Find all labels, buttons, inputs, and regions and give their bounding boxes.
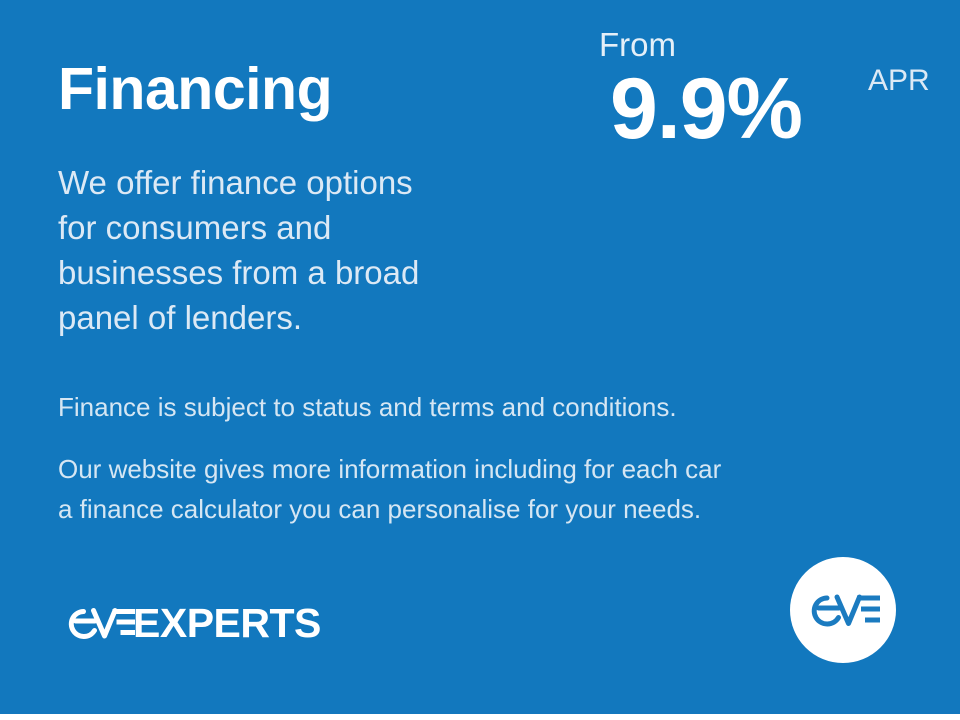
ev-monogram-icon [62,602,136,644]
website-note-line: a finance calculator you can personalise… [58,489,948,529]
page-title: Financing [58,60,332,119]
intro-line: businesses from a broad [58,250,528,295]
intro-line: for consumers and [58,205,528,250]
rate-value: 9.9% [610,66,802,152]
rate-apr-label: APR [868,66,930,96]
wordmark-text: EXPERTS [133,603,321,644]
slide-canvas: Financing From 9.9% APR We offer finance… [0,0,960,714]
website-note: Our website gives more information inclu… [58,449,948,529]
bottom-edge-strip [0,714,960,720]
website-note-line: Our website gives more information inclu… [58,449,948,489]
intro-line: We offer finance options [58,160,528,205]
rate-block: From 9.9% APR [596,28,946,158]
intro-line: panel of lenders. [58,295,528,340]
rate-from-label: From [599,28,676,61]
ev-experts-wordmark: EXPERTS [62,600,321,646]
disclaimer-text: Finance is subject to status and terms a… [58,389,948,425]
eve-monogram-icon [805,588,883,632]
eve-badge-logo [790,557,896,663]
intro-paragraph: We offer finance options for consumers a… [58,160,528,340]
